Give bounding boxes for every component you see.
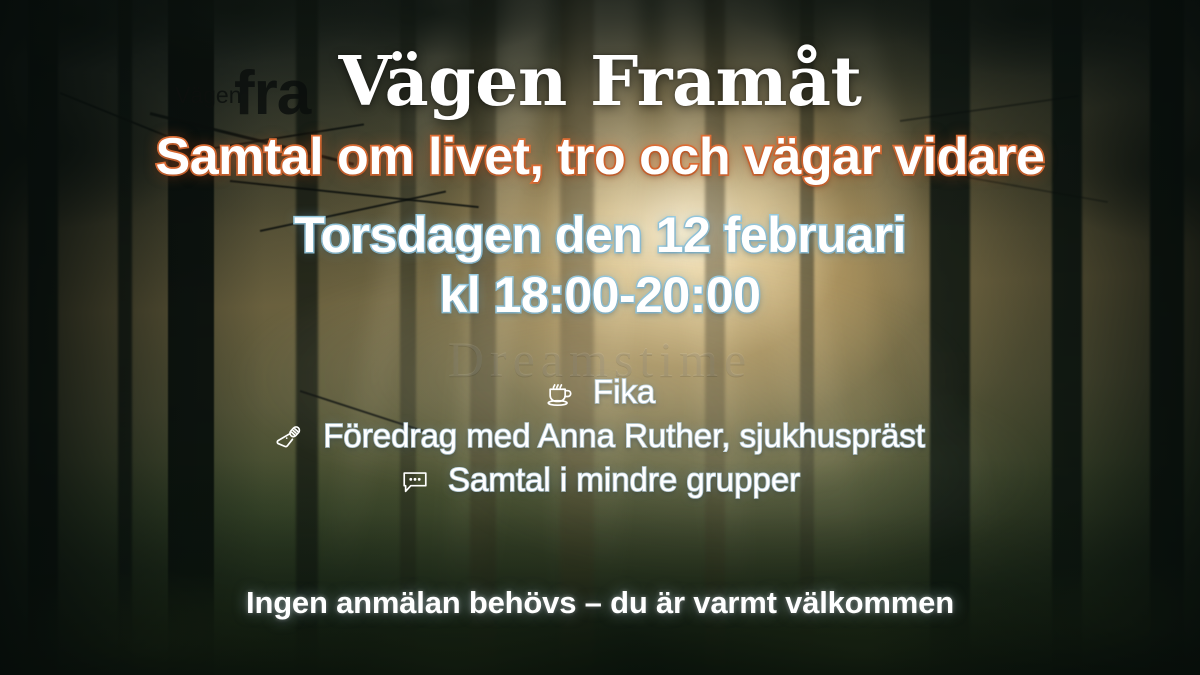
program-list: Fika Föredrag med Anna Ruther, sjukhuspr… — [0, 370, 1200, 502]
event-poster: Dreamstime Vägen fra Vägen Framåt Samtal… — [0, 0, 1200, 675]
event-date: Torsdagen den 12 februari — [0, 206, 1200, 264]
list-item: Fika — [0, 370, 1200, 414]
poster-title: Vägen Framåt — [0, 48, 1200, 116]
poster-subtitle: Samtal om livet, tro och vägar vidare — [0, 129, 1200, 185]
list-item-label: Fika — [593, 373, 655, 410]
list-item-label: Föredrag med Anna Ruther, sjukhuspräst — [323, 417, 925, 454]
poster-content: Vägen Framåt Samtal om livet, tro och vä… — [0, 0, 1200, 675]
speech-balloon-icon — [400, 466, 430, 496]
list-item: Föredrag med Anna Ruther, sjukhuspräst — [0, 414, 1200, 458]
poster-footer-note: Ingen anmälan behövs – du är varmt välko… — [0, 585, 1200, 621]
poster-datetime: Torsdagen den 12 februari kl 18:00-20:00 — [0, 206, 1200, 327]
microphone-icon — [275, 422, 305, 452]
list-item-label: Samtal i mindre grupper — [448, 461, 800, 498]
event-time: kl 18:00-20:00 — [0, 264, 1200, 327]
hot-beverage-icon — [545, 378, 575, 408]
list-item: Samtal i mindre grupper — [0, 458, 1200, 502]
